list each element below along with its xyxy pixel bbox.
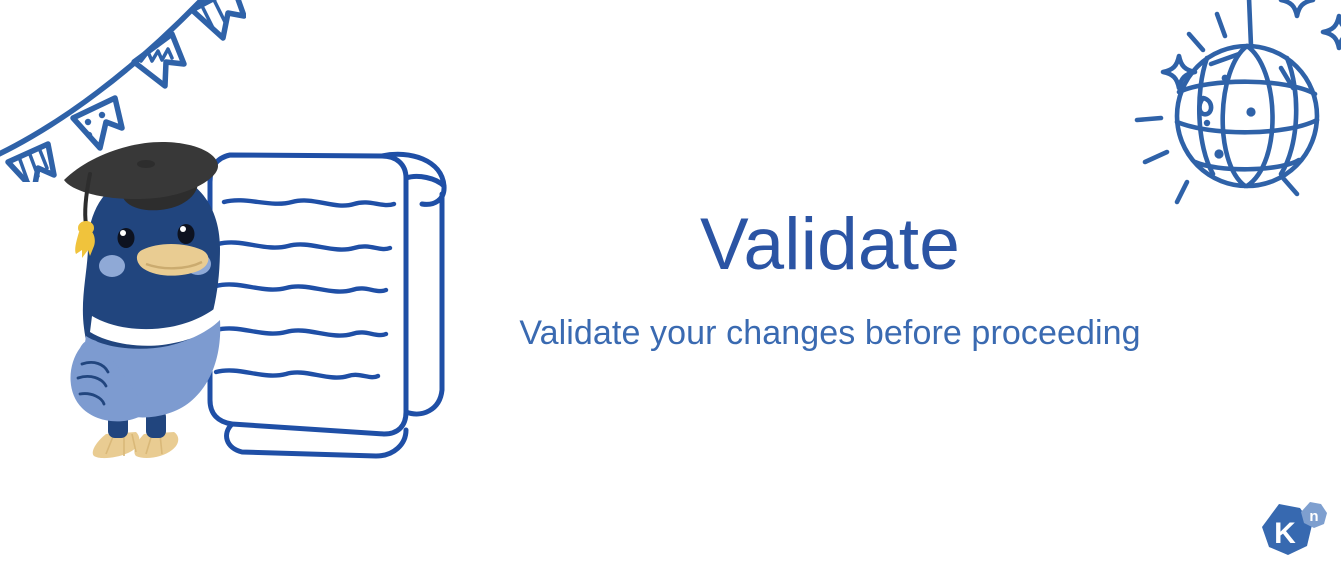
- bird-cheek-left: [99, 255, 125, 277]
- logo-letter-k: K: [1274, 517, 1296, 550]
- hero-text-block: Validate Validate your changes before pr…: [400, 206, 1260, 354]
- page-subtitle: Validate your changes before proceeding: [400, 313, 1260, 354]
- page-title: Validate: [400, 206, 1260, 283]
- bird-beak: [137, 244, 208, 276]
- brand-logo: K n: [1252, 500, 1330, 570]
- validate-screen: Validate Validate your changes before pr…: [0, 0, 1341, 585]
- bird-feet: [93, 432, 179, 458]
- bird-mascot: [64, 142, 220, 458]
- logo-letter-n: n: [1309, 508, 1318, 525]
- discoball-decoration: [1121, 0, 1341, 226]
- bird-eye-left: [118, 228, 135, 248]
- bird-eye-right: [178, 224, 195, 244]
